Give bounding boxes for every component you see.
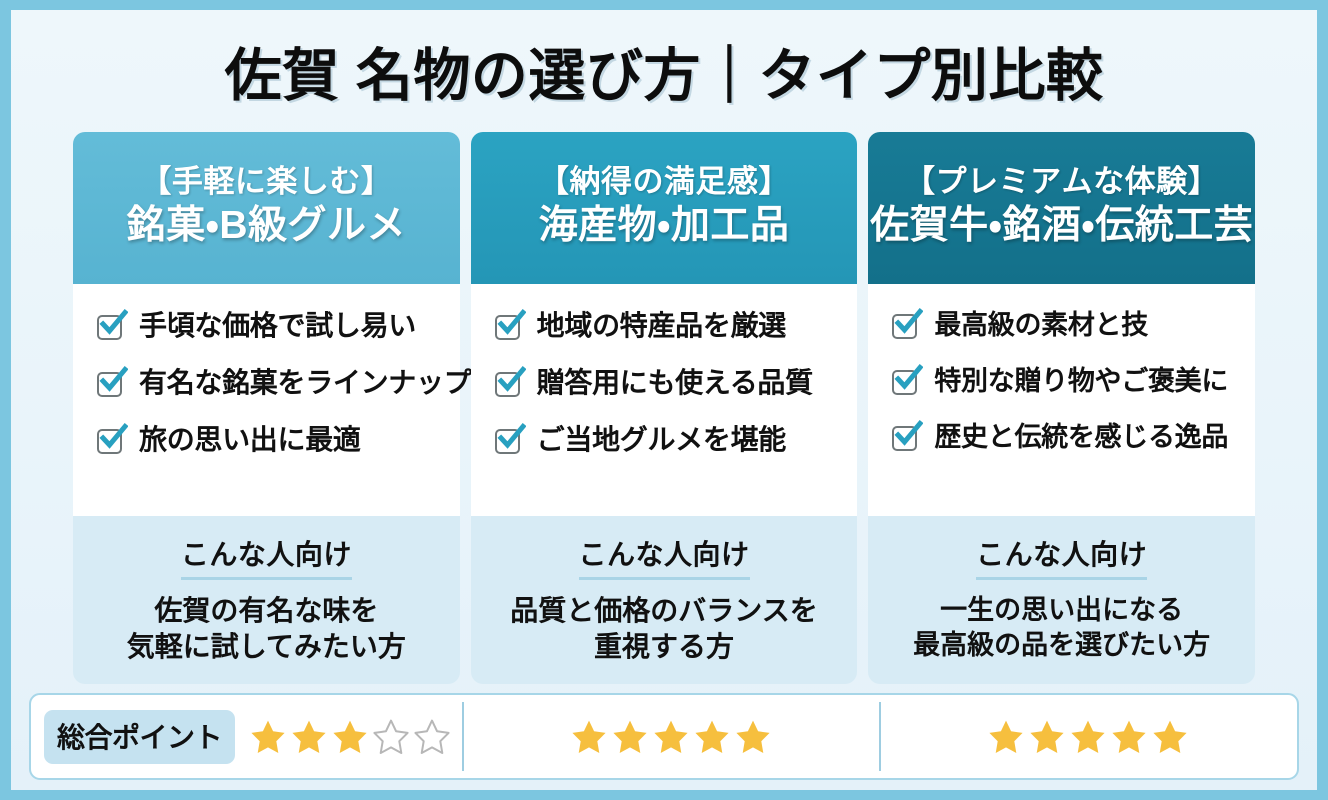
feature-item: 手頃な価格で試し易い bbox=[73, 310, 460, 342]
feature-item: 特別な贈り物やご褒美に bbox=[868, 366, 1255, 397]
column-for-whom-3: こんな人向け 一生の思い出になる 最高級の品を選びたい方 bbox=[868, 516, 1255, 684]
column-header-kicker: 【プレミアムな体験】 bbox=[904, 163, 1219, 201]
checkbox-checked-icon bbox=[890, 422, 921, 453]
feature-label: 有名な銘菓をラインナップ bbox=[139, 367, 471, 399]
star-filled-icon bbox=[987, 718, 1025, 756]
star-filled-icon bbox=[1028, 718, 1066, 756]
star-rating-3 bbox=[987, 718, 1189, 756]
checkbox-checked-icon bbox=[95, 311, 126, 342]
score-cell-1: 総合ポイント bbox=[31, 695, 462, 778]
feature-item: ご当地グルメを堪能 bbox=[471, 424, 858, 456]
checkbox-checked-icon bbox=[890, 310, 921, 341]
column-feature-list-2: 地域の特産品を厳選 贈答用にも使える品質 bbox=[471, 284, 858, 516]
star-empty-icon bbox=[372, 718, 410, 756]
for-whom-line-1: 一生の思い出になる bbox=[940, 595, 1183, 625]
checkbox-checked-icon bbox=[95, 425, 126, 456]
for-whom-title: こんな人向け bbox=[976, 533, 1147, 580]
for-whom-description: 品質と価格のバランスを 重視する方 bbox=[510, 593, 817, 666]
star-filled-icon bbox=[652, 718, 690, 756]
column-header-title: 佐賀牛・銘酒・伝統工芸 bbox=[870, 203, 1253, 250]
score-badge-label: 総合ポイント bbox=[44, 710, 235, 764]
checkbox-checked-icon bbox=[493, 311, 524, 342]
star-rating-2 bbox=[570, 718, 772, 756]
star-filled-icon bbox=[331, 718, 369, 756]
checkbox-checked-icon bbox=[493, 425, 524, 456]
for-whom-line-2: 最高級の品を選びたい方 bbox=[913, 630, 1210, 660]
comparison-column-1: 【手軽に楽しむ】 銘菓・B級グルメ 手頃な価格で試し易い bbox=[73, 132, 460, 684]
for-whom-line-2: 気軽に試してみたい方 bbox=[127, 631, 406, 662]
column-for-whom-2: こんな人向け 品質と価格のバランスを 重視する方 bbox=[471, 516, 858, 684]
infographic-frame: 佐賀 名物の選び方｜タイプ別比較 【手軽に楽しむ】 銘菓・B級グルメ 手頃な価格… bbox=[0, 0, 1328, 800]
feature-label: 最高級の素材と技 bbox=[934, 310, 1148, 341]
feature-label: 手頃な価格で試し易い bbox=[139, 310, 416, 342]
checkbox-checked-icon bbox=[890, 366, 921, 397]
column-header-title: 銘菓・B級グルメ bbox=[127, 203, 406, 250]
page-title: 佐賀 名物の選び方｜タイプ別比較 bbox=[225, 30, 1104, 112]
column-feature-list-3: 最高級の素材と技 特別な贈り物やご褒美に bbox=[868, 284, 1255, 516]
comparison-columns: 【手軽に楽しむ】 銘菓・B級グルメ 手頃な価格で試し易い bbox=[11, 132, 1317, 684]
star-filled-icon bbox=[1110, 718, 1148, 756]
column-for-whom-1: こんな人向け 佐賀の有名な味を 気軽に試してみたい方 bbox=[73, 516, 460, 684]
column-header-kicker: 【納得の満足感】 bbox=[538, 163, 790, 201]
column-header-2: 【納得の満足感】 海産物・加工品 bbox=[471, 132, 858, 284]
for-whom-line-2: 重視する方 bbox=[594, 631, 734, 662]
feature-item: 歴史と伝統を感じる逸品 bbox=[868, 422, 1255, 453]
star-filled-icon bbox=[570, 718, 608, 756]
feature-item: 最高級の素材と技 bbox=[868, 310, 1255, 341]
column-header-title: 海産物・加工品 bbox=[539, 203, 790, 250]
for-whom-description: 一生の思い出になる 最高級の品を選びたい方 bbox=[913, 593, 1210, 663]
star-filled-icon bbox=[1151, 718, 1189, 756]
star-filled-icon bbox=[1069, 718, 1107, 756]
star-empty-icon bbox=[413, 718, 451, 756]
score-cell-3 bbox=[879, 695, 1297, 778]
title-bar: 佐賀 名物の選び方｜タイプ別比較 bbox=[11, 10, 1317, 132]
feature-label: 地域の特産品を厳選 bbox=[537, 310, 786, 342]
checkbox-checked-icon bbox=[493, 368, 524, 399]
star-filled-icon bbox=[693, 718, 731, 756]
star-filled-icon bbox=[290, 718, 328, 756]
comparison-column-2: 【納得の満足感】 海産物・加工品 地域の特産品を厳選 bbox=[471, 132, 858, 684]
score-cell-2 bbox=[462, 695, 880, 778]
star-filled-icon bbox=[611, 718, 649, 756]
star-filled-icon bbox=[734, 718, 772, 756]
star-rating-1 bbox=[249, 718, 451, 756]
feature-item: 旅の思い出に最適 bbox=[73, 424, 460, 456]
for-whom-title: こんな人向け bbox=[579, 533, 750, 580]
feature-label: 特別な贈り物やご褒美に bbox=[934, 366, 1228, 397]
feature-item: 有名な銘菓をラインナップ bbox=[73, 367, 460, 399]
column-feature-list-1: 手頃な価格で試し易い 有名な銘菓をラインナップ bbox=[73, 284, 460, 516]
column-header-1: 【手軽に楽しむ】 銘菓・B級グルメ bbox=[73, 132, 460, 284]
feature-label: 贈答用にも使える品質 bbox=[537, 367, 813, 399]
feature-label: ご当地グルメを堪能 bbox=[537, 424, 786, 456]
column-header-3: 【プレミアムな体験】 佐賀牛・銘酒・伝統工芸 bbox=[868, 132, 1255, 284]
for-whom-title: こんな人向け bbox=[181, 533, 352, 580]
for-whom-line-1: 佐賀の有名な味を bbox=[154, 595, 378, 626]
for-whom-description: 佐賀の有名な味を 気軽に試してみたい方 bbox=[127, 593, 406, 666]
feature-label: 歴史と伝統を感じる逸品 bbox=[934, 422, 1228, 453]
checkbox-checked-icon bbox=[95, 368, 126, 399]
column-header-kicker: 【手軽に楽しむ】 bbox=[140, 163, 392, 201]
feature-item: 贈答用にも使える品質 bbox=[471, 367, 858, 399]
feature-label: 旅の思い出に最適 bbox=[139, 424, 361, 456]
infographic-page: 佐賀 名物の選び方｜タイプ別比較 【手軽に楽しむ】 銘菓・B級グルメ 手頃な価格… bbox=[11, 10, 1317, 790]
overall-score-bar: 総合ポイント bbox=[29, 693, 1299, 780]
feature-item: 地域の特産品を厳選 bbox=[471, 310, 858, 342]
comparison-column-3: 【プレミアムな体験】 佐賀牛・銘酒・伝統工芸 最高級の素材と技 bbox=[868, 132, 1255, 684]
star-filled-icon bbox=[249, 718, 287, 756]
for-whom-line-1: 品質と価格のバランスを bbox=[510, 595, 817, 626]
